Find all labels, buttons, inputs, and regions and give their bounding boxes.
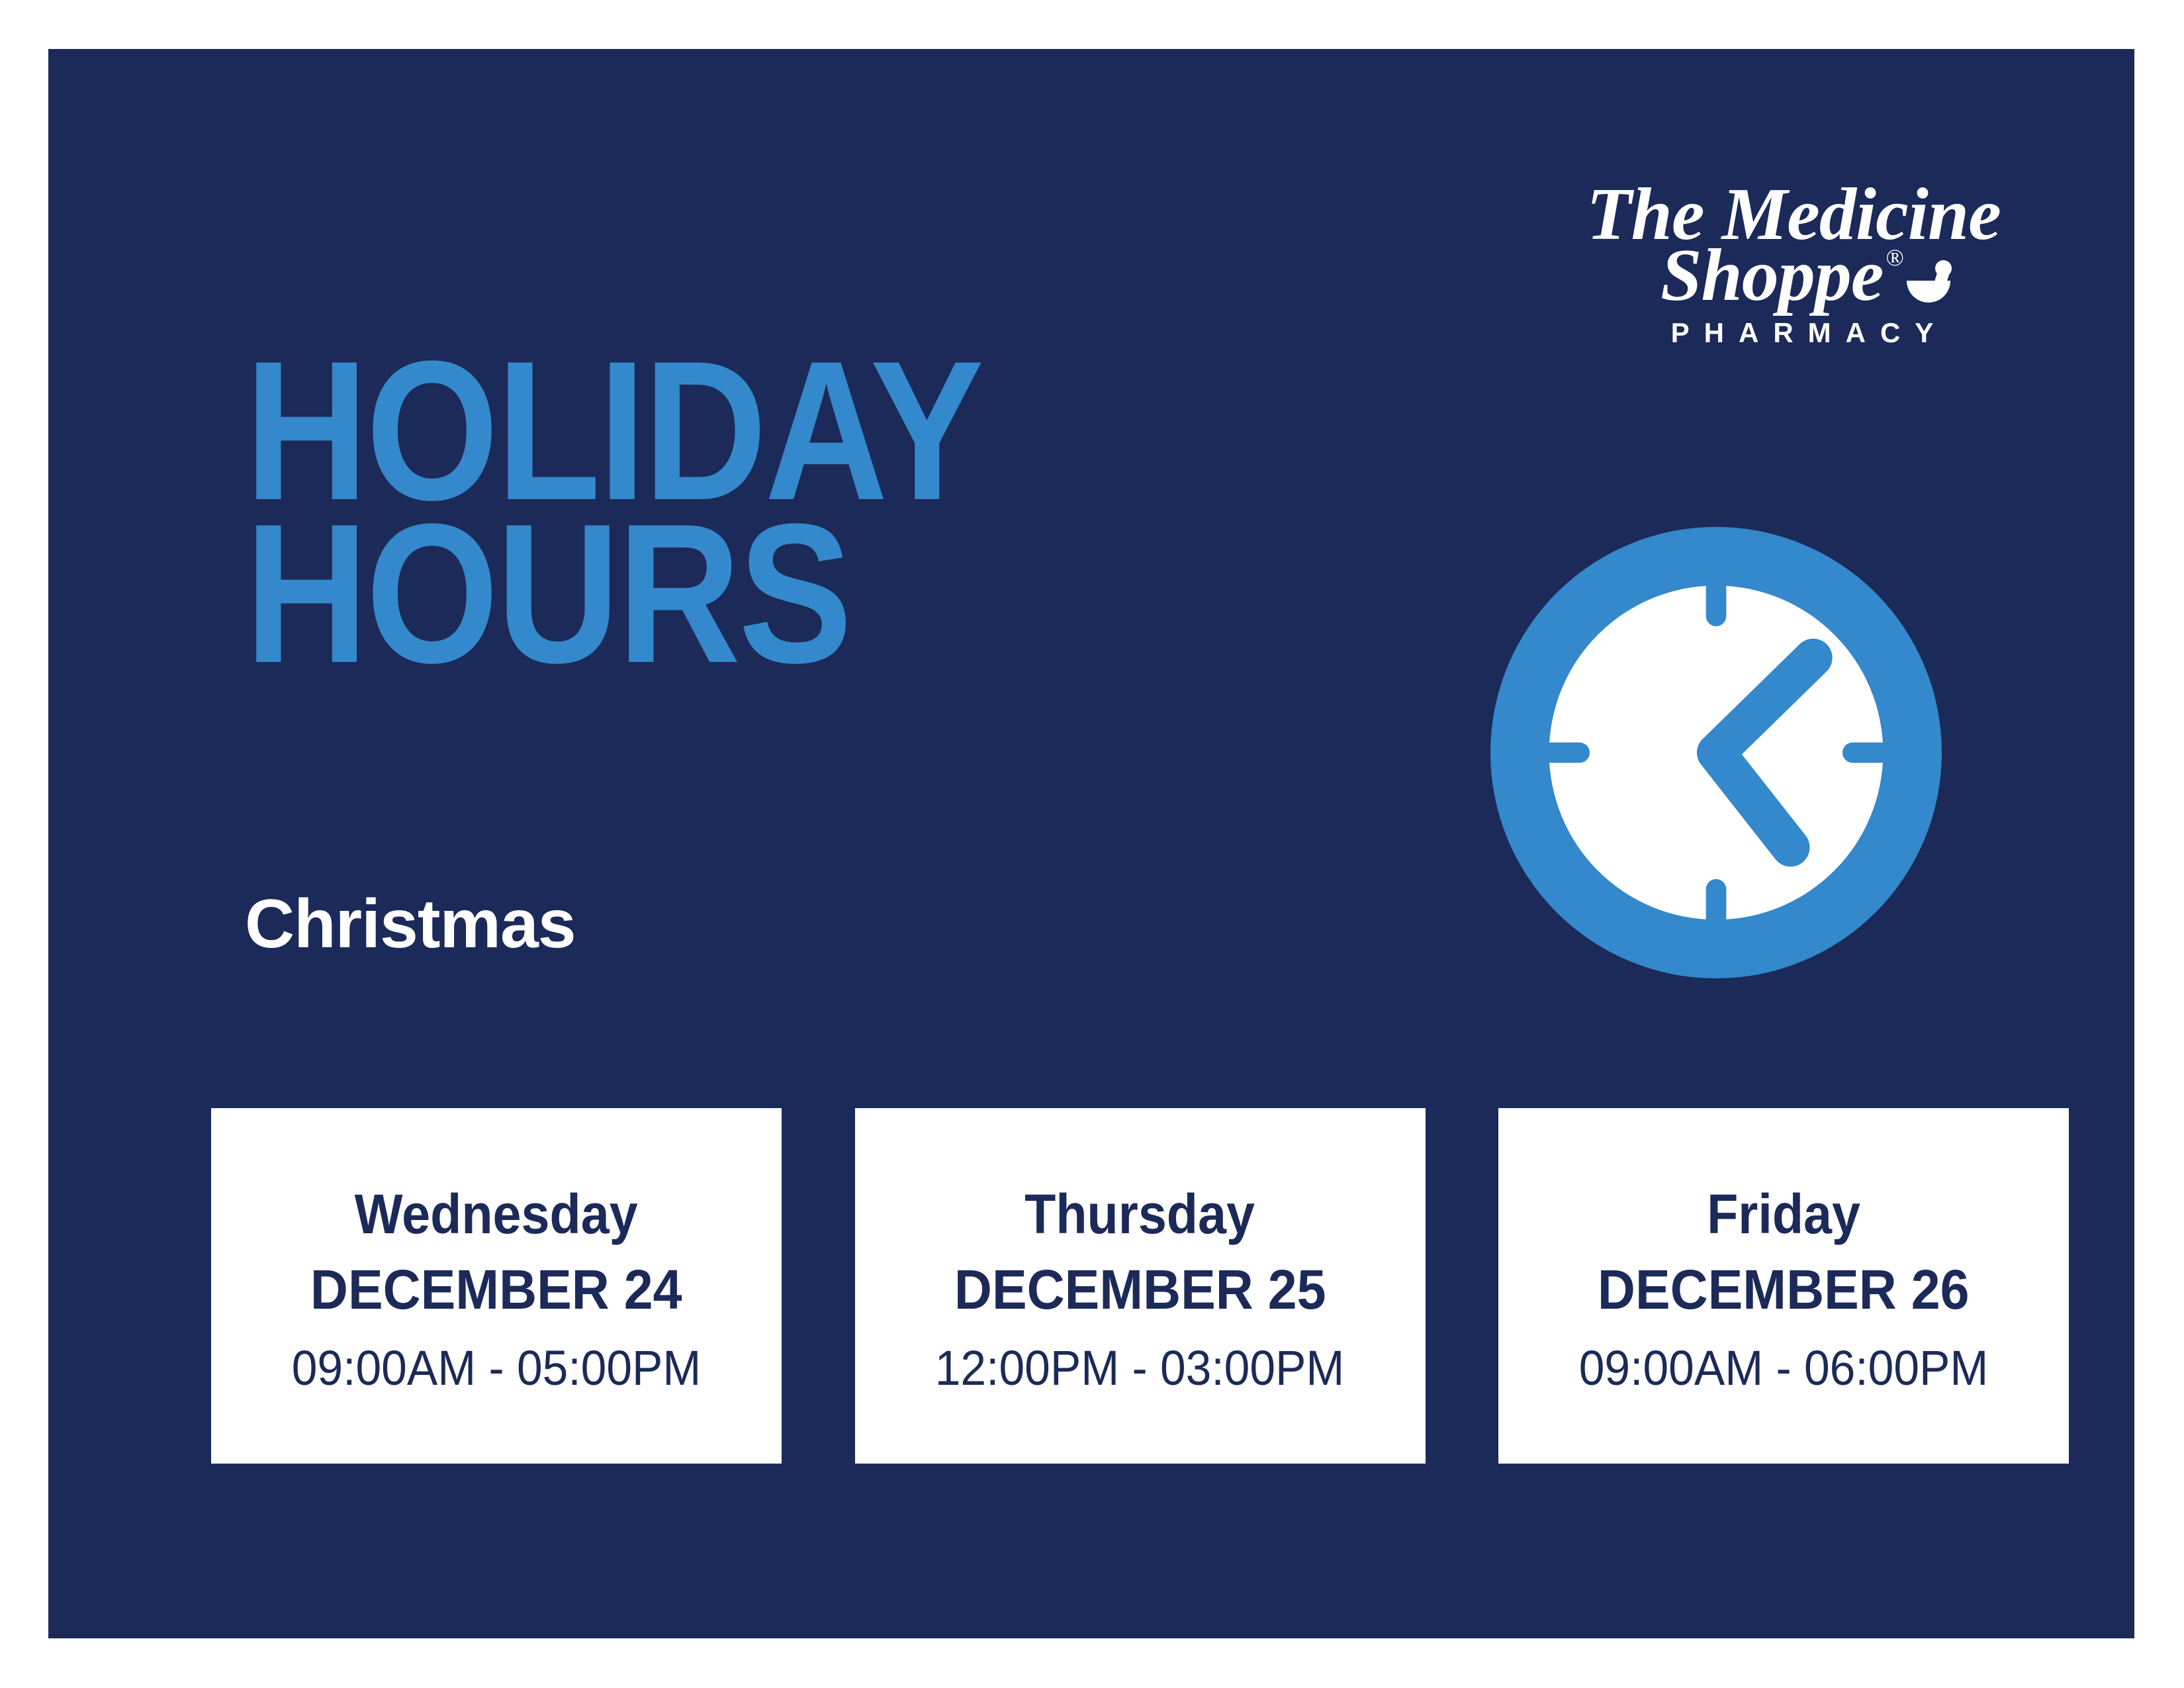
registered-trademark-icon: ® [1886,244,1903,271]
brand-wordmark: The Medicine Shoppe® [1547,185,2057,306]
card-hours-label: 12:00PM - 03:00PM [935,1344,1345,1393]
card-date-label: DECEMBER 25 [954,1262,1326,1317]
card-date-label: DECEMBER 26 [1598,1262,1970,1317]
hours-card: Thursday DECEMBER 25 12:00PM - 03:00PM [855,1108,1426,1464]
card-date-label: DECEMBER 24 [310,1262,682,1317]
clock-icon [1490,527,1942,978]
brand-shoppe-text: Shoppe [1661,234,1883,316]
brand-logo: The Medicine Shoppe® PHARMACY [1547,185,2057,349]
hours-card: Wednesday DECEMBER 24 09:00AM - 05:00PM [211,1108,782,1464]
holiday-hours-poster: The Medicine Shoppe® PHARMACY HOLIDAY HO… [48,49,2134,1638]
hours-card-list: Wednesday DECEMBER 24 09:00AM - 05:00PM … [211,1108,2069,1464]
brand-script-line2: Shoppe® [1547,246,2057,306]
card-day-label: Friday [1707,1186,1860,1242]
card-day-label: Wednesday [355,1186,638,1242]
page-subtitle: Christmas [245,885,576,964]
card-day-label: Thursday [1025,1186,1255,1242]
page-title: HOLIDAY HOURS [245,349,981,675]
hours-card: Friday DECEMBER 26 09:00AM - 06:00PM [1498,1108,2069,1464]
mortar-and-pestle-icon [1905,260,1954,304]
card-hours-label: 09:00AM - 06:00PM [1579,1344,1989,1393]
card-hours-label: 09:00AM - 05:00PM [292,1344,702,1393]
brand-pharmacy-label: PHARMACY [1547,317,2057,349]
